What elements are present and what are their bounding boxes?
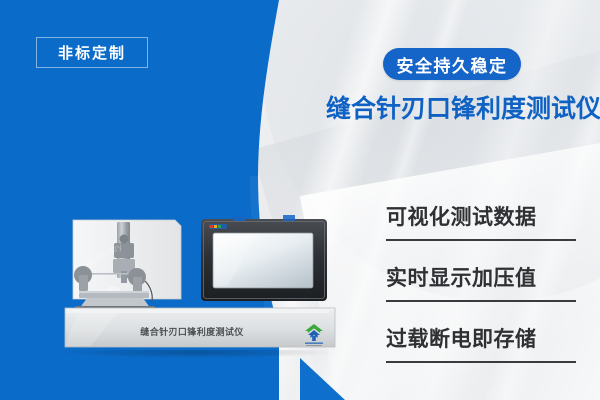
list-item: 过载断电即存储	[386, 325, 582, 363]
feature-list: 可视化测试数据 实时显示加压值 过载断电即存储	[386, 203, 582, 363]
page-title: 缝合针刃口锋利度测试仪	[326, 89, 582, 125]
feature-divider	[386, 239, 576, 241]
custom-made-badge: 非标定制	[36, 37, 148, 68]
list-item: 实时显示加压值	[386, 264, 582, 302]
feature-label: 实时显示加压值	[386, 264, 582, 294]
list-item: 可视化测试数据	[386, 203, 582, 241]
product-banner: 非标定制 安全持久稳定 缝合针刃口锋利度测试仪 可视化测试数据 实时显示加压值 …	[0, 0, 600, 400]
feature-divider	[386, 300, 576, 302]
custom-made-badge-label: 非标定制	[58, 42, 126, 63]
product-base-label: 缝合针刃口锋利度测试仪	[112, 325, 272, 338]
hmi-brand-badge	[209, 224, 227, 229]
slogan-pill-label: 安全持久稳定	[397, 52, 508, 77]
connector-tab-right	[283, 215, 295, 221]
feature-divider	[386, 361, 576, 363]
company-logo	[301, 322, 327, 348]
feature-label: 过载断电即存储	[386, 325, 582, 355]
hmi-touchscreen	[201, 219, 327, 301]
slogan-pill: 安全持久稳定	[383, 48, 521, 80]
connector-tab-left	[233, 215, 245, 221]
feature-label: 可视化测试数据	[386, 203, 582, 233]
